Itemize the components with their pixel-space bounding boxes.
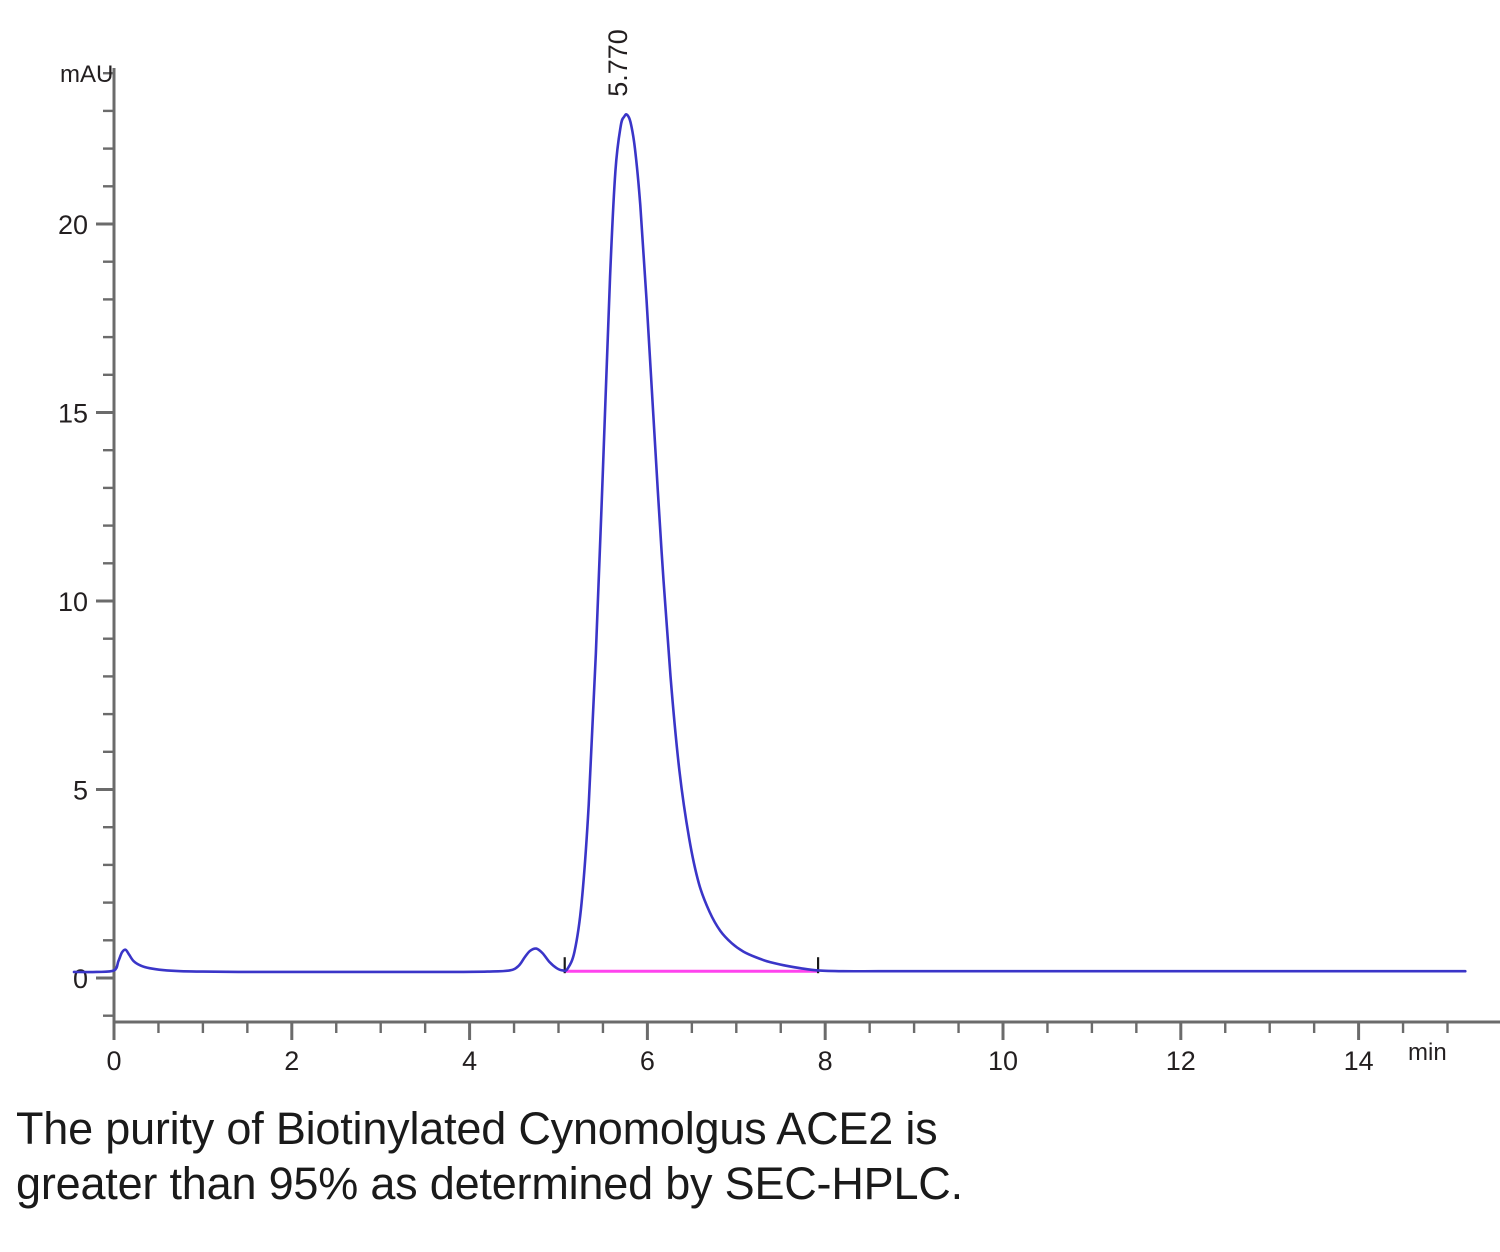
y-tick-label: 0 <box>73 964 88 994</box>
x-tick-label: 4 <box>462 1046 477 1076</box>
y-tick-label: 20 <box>58 210 88 240</box>
x-tick-label: 12 <box>1166 1046 1196 1076</box>
figure-caption: The purity of Biotinylated Cynomolgus AC… <box>16 1102 1486 1212</box>
x-tick-label: 2 <box>284 1046 299 1076</box>
chart-area: 05101520 02468101214 mAU min 5.770 <box>0 0 1500 1085</box>
y-axis-unit-label: mAU <box>60 61 113 88</box>
y-tick-label: 15 <box>58 399 88 429</box>
caption-line-1: The purity of Biotinylated Cynomolgus AC… <box>16 1102 1486 1157</box>
y-tick-label: 5 <box>73 776 88 806</box>
x-tick-label: 10 <box>988 1046 1018 1076</box>
caption-line-2: greater than 95% as determined by SEC-HP… <box>16 1157 1486 1212</box>
x-tick-label: 0 <box>106 1046 121 1076</box>
sec-hplc-chromatogram: 05101520 02468101214 mAU min 5.770 <box>0 0 1500 1085</box>
peak-retention-time-label: 5.770 <box>603 29 633 97</box>
chromatogram-figure: 05101520 02468101214 mAU min 5.770 The p… <box>0 0 1500 1252</box>
peak-annotation-group: 5.770 <box>603 29 633 97</box>
x-tick-label: 14 <box>1344 1046 1374 1076</box>
x-axis-unit-label: min <box>1408 1039 1447 1066</box>
x-tick-label: 8 <box>818 1046 833 1076</box>
y-tick-label: 10 <box>58 587 88 617</box>
chart-background <box>0 0 1500 1085</box>
x-tick-label: 6 <box>640 1046 655 1076</box>
